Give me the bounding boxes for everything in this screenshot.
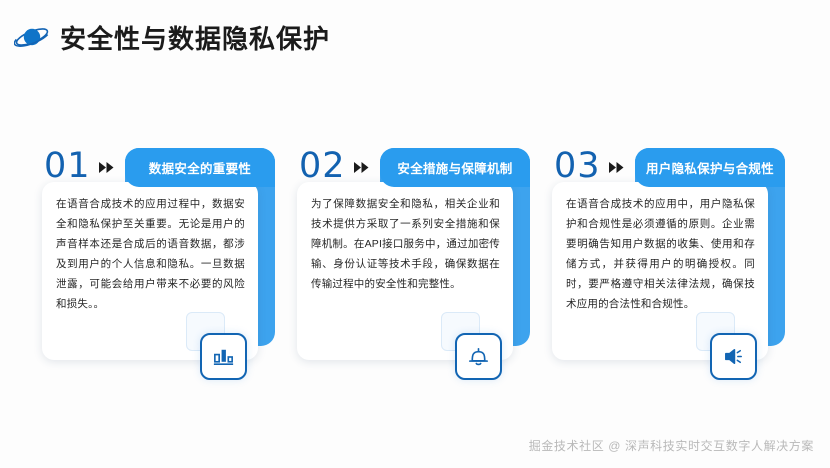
card-number: 02 [299,149,346,184]
card-body-text: 在语音合成技术的应用过程中，数据安全和隐私保护至关重要。无论是用户的声音样本还是… [56,194,245,314]
card-badge-label: 安全措施与保障机制 [397,158,512,177]
card-badge-label: 数据安全的重要性 [149,158,251,177]
card-badge: 用户隐私保护与合规性 [635,148,785,187]
speaker-icon [721,344,746,369]
double-chevron-right-icon [353,161,370,174]
info-card-1[interactable]: 在语音合成技术的应用过程中，数据安全和隐私保护至关重要。无论是用户的声音样本还是… [42,140,297,390]
page-header: 安全性与数据隐私保护 [0,14,330,60]
page-title: 安全性与数据隐私保护 [60,19,330,56]
double-chevron-right-icon [608,161,625,174]
card-icon-box [455,333,502,380]
bar-chart-icon [211,344,236,369]
card-badge: 安全措施与保障机制 [380,148,530,187]
card-icon-box [200,333,247,380]
info-card-2[interactable]: 为了保障数据安全和隐私，相关企业和技术提供方采取了一系列安全措施和保障机制。在A… [297,140,552,390]
card-body-text: 在语音合成技术的应用中，用户隐私保护和合规性是必须遵循的原则。企业需要明确告知用… [566,194,755,314]
double-chevron-right-icon [98,161,115,174]
cards-container: 在语音合成技术的应用过程中，数据安全和隐私保护至关重要。无论是用户的声音样本还是… [0,140,830,390]
card-body-text: 为了保障数据安全和隐私，相关企业和技术提供方采取了一系列安全措施和保障机制。在A… [311,194,500,294]
info-card-3[interactable]: 在语音合成技术的应用中，用户隐私保护和合规性是必须遵循的原则。企业需要明确告知用… [552,140,807,390]
card-badge-label: 用户隐私保护与合规性 [646,158,774,177]
footer-watermark: 掘金技术社区 @ 深声科技实时交互数字人解决方案 [529,437,814,454]
card-number: 01 [44,149,91,184]
card-number-group: 01 [44,146,115,186]
bell-icon [466,344,491,369]
card-badge: 数据安全的重要性 [125,148,275,187]
card-number-group: 02 [299,146,370,186]
card-icon-box [710,333,757,380]
card-number: 03 [554,149,601,184]
planet-icon [14,22,50,52]
card-number-group: 03 [554,146,625,186]
